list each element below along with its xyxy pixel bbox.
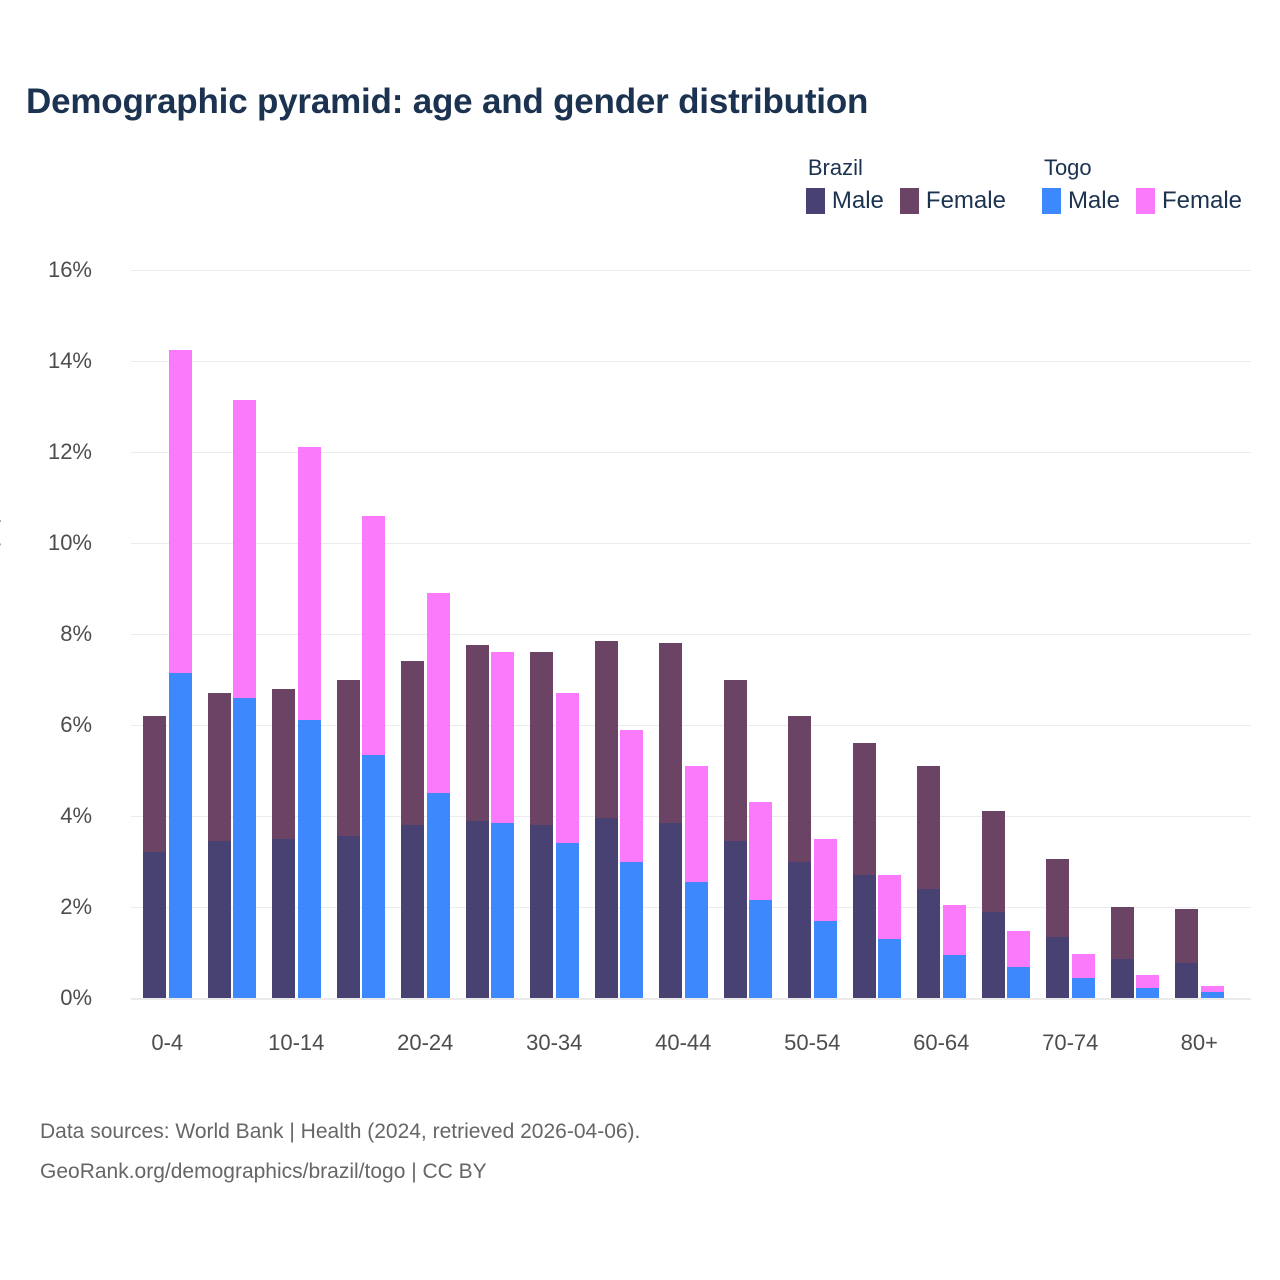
bar-brazil[interactable] xyxy=(337,680,360,998)
bar-togo[interactable] xyxy=(298,447,321,998)
bar-brazil[interactable] xyxy=(788,716,811,998)
bar-togo[interactable] xyxy=(362,516,385,998)
bar-brazil[interactable] xyxy=(853,743,876,998)
bar-togo[interactable] xyxy=(878,875,901,998)
bar-segment-togo-male[interactable] xyxy=(362,755,385,998)
bar-segment-brazil-male[interactable] xyxy=(466,821,489,998)
x-tick-label: 80+ xyxy=(1181,1030,1218,1056)
bar-togo[interactable] xyxy=(556,693,579,998)
bar-segment-brazil-male[interactable] xyxy=(337,836,360,998)
bar-group xyxy=(530,270,579,998)
bar-segment-togo-male[interactable] xyxy=(878,939,901,998)
bar-group xyxy=(788,270,837,998)
bar-segment-togo-male[interactable] xyxy=(1201,992,1224,998)
bar-togo[interactable] xyxy=(1072,954,1095,998)
chart-canvas: Share of population 0%2%4%6%8%10%12%14%1… xyxy=(0,0,1280,1280)
bar-segment-brazil-male[interactable] xyxy=(1046,937,1069,998)
bar-brazil[interactable] xyxy=(401,661,424,998)
bar-togo[interactable] xyxy=(491,652,514,998)
bar-segment-brazil-female[interactable] xyxy=(208,693,231,841)
bar-togo[interactable] xyxy=(749,802,772,998)
bar-group xyxy=(272,270,321,998)
footer-attribution: GeoRank.org/demographics/brazil/togo | C… xyxy=(40,1152,640,1192)
bar-segment-togo-female[interactable] xyxy=(620,730,643,862)
bar-segment-brazil-female[interactable] xyxy=(982,811,1005,911)
bar-segment-togo-male[interactable] xyxy=(814,921,837,998)
gridline xyxy=(131,998,1251,999)
bar-segment-togo-male[interactable] xyxy=(620,862,643,999)
bar-segment-togo-male[interactable] xyxy=(943,955,966,998)
bar-segment-brazil-female[interactable] xyxy=(595,641,618,818)
bar-segment-brazil-female[interactable] xyxy=(466,645,489,820)
bar-segment-togo-female[interactable] xyxy=(943,905,966,955)
bar-brazil[interactable] xyxy=(466,645,489,998)
bar-segment-togo-male[interactable] xyxy=(169,673,192,998)
bar-togo[interactable] xyxy=(685,766,708,998)
y-axis-label: Share of population xyxy=(0,450,2,632)
bar-group xyxy=(982,270,1031,998)
bar-segment-togo-male[interactable] xyxy=(1136,988,1159,998)
bar-segment-brazil-male[interactable] xyxy=(530,825,553,998)
bar-segment-brazil-female[interactable] xyxy=(1111,907,1134,959)
bar-segment-togo-male[interactable] xyxy=(233,698,256,998)
bar-segment-togo-female[interactable] xyxy=(878,875,901,939)
x-tick-label: 50-54 xyxy=(784,1030,840,1056)
bar-segment-brazil-female[interactable] xyxy=(337,680,360,837)
x-tick-label: 10-14 xyxy=(268,1030,324,1056)
bar-segment-brazil-female[interactable] xyxy=(917,766,940,889)
bar-group xyxy=(595,270,644,998)
bar-brazil[interactable] xyxy=(1111,907,1134,998)
bar-togo[interactable] xyxy=(1007,931,1030,998)
y-tick-label: 16% xyxy=(48,257,92,283)
y-tick-label: 6% xyxy=(60,712,92,738)
bar-togo[interactable] xyxy=(169,350,192,998)
y-tick-label: 4% xyxy=(60,803,92,829)
bar-brazil[interactable] xyxy=(724,680,747,998)
bar-segment-togo-female[interactable] xyxy=(362,516,385,755)
bar-group xyxy=(659,270,708,998)
bar-brazil[interactable] xyxy=(917,766,940,998)
bar-togo[interactable] xyxy=(233,400,256,998)
bar-segment-togo-female[interactable] xyxy=(298,447,321,720)
x-tick-label: 0-4 xyxy=(151,1030,183,1056)
bar-segment-brazil-female[interactable] xyxy=(659,643,682,823)
bar-segment-brazil-male[interactable] xyxy=(724,841,747,998)
bar-segment-togo-male[interactable] xyxy=(427,793,450,998)
bar-segment-togo-female[interactable] xyxy=(1072,954,1095,978)
bar-segment-togo-female[interactable] xyxy=(169,350,192,673)
bar-group xyxy=(853,270,902,998)
bar-segment-togo-male[interactable] xyxy=(1007,967,1030,998)
bar-brazil[interactable] xyxy=(272,689,295,998)
bar-group xyxy=(917,270,966,998)
bar-segment-togo-male[interactable] xyxy=(556,843,579,998)
bar-segment-brazil-female[interactable] xyxy=(143,716,166,853)
bar-togo[interactable] xyxy=(814,839,837,998)
footer: Data sources: World Bank | Health (2024,… xyxy=(40,1112,640,1192)
bar-segment-togo-male[interactable] xyxy=(1072,978,1095,998)
bar-segment-togo-female[interactable] xyxy=(427,593,450,793)
bar-togo[interactable] xyxy=(943,905,966,998)
bar-togo[interactable] xyxy=(620,730,643,998)
bar-segment-brazil-female[interactable] xyxy=(530,652,553,825)
x-tick-label: 40-44 xyxy=(655,1030,711,1056)
y-tick-label: 10% xyxy=(48,530,92,556)
bar-segment-brazil-female[interactable] xyxy=(724,680,747,842)
bar-segment-togo-male[interactable] xyxy=(685,882,708,998)
bar-segment-brazil-male[interactable] xyxy=(853,875,876,998)
bar-segment-brazil-male[interactable] xyxy=(917,889,940,998)
y-tick-label: 0% xyxy=(60,985,92,1011)
plot-area xyxy=(131,270,1251,998)
bar-segment-togo-male[interactable] xyxy=(749,900,772,998)
x-tick-label: 70-74 xyxy=(1042,1030,1098,1056)
bar-segment-togo-female[interactable] xyxy=(556,693,579,843)
bar-segment-brazil-male[interactable] xyxy=(1175,963,1198,998)
bar-group xyxy=(1046,270,1095,998)
y-tick-label: 14% xyxy=(48,348,92,374)
bar-segment-togo-male[interactable] xyxy=(491,823,514,998)
bar-segment-brazil-female[interactable] xyxy=(1175,909,1198,962)
bar-togo[interactable] xyxy=(427,593,450,998)
y-tick-label: 12% xyxy=(48,439,92,465)
bar-group xyxy=(1175,270,1224,998)
bar-togo[interactable] xyxy=(1136,975,1159,998)
bar-brazil[interactable] xyxy=(595,641,618,998)
y-tick-label: 8% xyxy=(60,621,92,647)
bar-segment-togo-female[interactable] xyxy=(685,766,708,882)
bar-segment-togo-female[interactable] xyxy=(233,400,256,698)
bar-brazil[interactable] xyxy=(208,693,231,998)
bar-group xyxy=(466,270,515,998)
bar-segment-brazil-female[interactable] xyxy=(1046,859,1069,936)
bar-segment-brazil-female[interactable] xyxy=(401,661,424,825)
bar-brazil[interactable] xyxy=(143,716,166,998)
bar-group xyxy=(208,270,257,998)
bar-group xyxy=(1111,270,1160,998)
bar-segment-brazil-male[interactable] xyxy=(208,841,231,998)
bar-segment-brazil-female[interactable] xyxy=(853,743,876,875)
bar-segment-brazil-male[interactable] xyxy=(595,818,618,998)
bar-segment-togo-female[interactable] xyxy=(749,802,772,900)
bar-segment-togo-female[interactable] xyxy=(814,839,837,921)
x-tick-label: 20-24 xyxy=(397,1030,453,1056)
bar-brazil[interactable] xyxy=(982,811,1005,998)
bar-segment-togo-female[interactable] xyxy=(1007,931,1030,967)
bar-group xyxy=(143,270,192,998)
bar-segment-brazil-male[interactable] xyxy=(982,912,1005,998)
bar-group xyxy=(337,270,386,998)
x-tick-label: 30-34 xyxy=(526,1030,582,1056)
footer-data-sources: Data sources: World Bank | Health (2024,… xyxy=(40,1112,640,1152)
bar-segment-brazil-male[interactable] xyxy=(788,862,811,999)
bar-togo[interactable] xyxy=(1201,986,1224,998)
bar-brazil[interactable] xyxy=(1175,909,1198,998)
bar-segment-brazil-male[interactable] xyxy=(143,852,166,998)
bar-segment-togo-female[interactable] xyxy=(1136,975,1159,988)
bar-segment-brazil-male[interactable] xyxy=(272,839,295,998)
y-tick-label: 2% xyxy=(60,894,92,920)
bar-group xyxy=(724,270,773,998)
bar-segment-brazil-male[interactable] xyxy=(1111,959,1134,998)
bar-segment-brazil-male[interactable] xyxy=(401,825,424,998)
bar-segment-brazil-female[interactable] xyxy=(272,689,295,839)
bar-brazil[interactable] xyxy=(659,643,682,998)
bar-segment-togo-female[interactable] xyxy=(491,652,514,823)
bar-segment-brazil-male[interactable] xyxy=(659,823,682,998)
bar-group xyxy=(401,270,450,998)
bar-brazil[interactable] xyxy=(530,652,553,998)
bar-segment-brazil-female[interactable] xyxy=(788,716,811,862)
bar-brazil[interactable] xyxy=(1046,859,1069,998)
bar-segment-togo-male[interactable] xyxy=(298,720,321,998)
x-tick-label: 60-64 xyxy=(913,1030,969,1056)
